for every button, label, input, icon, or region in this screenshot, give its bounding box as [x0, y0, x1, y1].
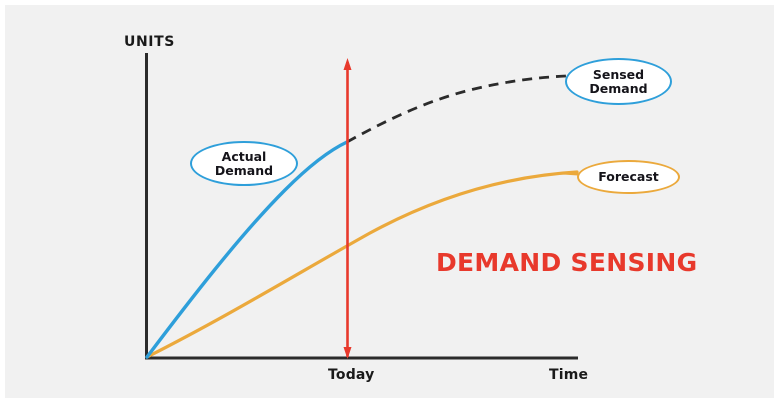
- callout-line-1: Actual: [222, 149, 267, 164]
- callout-line-1: Sensed: [593, 67, 644, 82]
- diagram-canvas: UNITS Today Time DEMAND SENSING Actual D…: [0, 0, 779, 406]
- callout-forecast-text: Forecast: [598, 170, 659, 184]
- callout-forecast: Forecast: [577, 160, 680, 194]
- callout-sensed-demand-text: Sensed Demand: [589, 68, 647, 96]
- diagram-title: DEMAND SENSING: [436, 248, 697, 277]
- callout-actual-demand: Actual Demand: [190, 141, 298, 186]
- y-axis-label: UNITS: [124, 34, 175, 50]
- demand-sensing-figure: [0, 0, 779, 406]
- sensed-demand-curve: [347, 76, 566, 142]
- callout-sensed-demand: Sensed Demand: [565, 58, 672, 105]
- x-axis-label: Time: [549, 367, 588, 383]
- today-marker-arrowhead-up: [344, 58, 352, 70]
- callout-line-2: Demand: [589, 81, 647, 96]
- callout-line-2: Demand: [215, 163, 273, 178]
- callout-actual-demand-text: Actual Demand: [215, 150, 273, 178]
- forecast-connector-line: [563, 173, 578, 174]
- today-marker-label: Today: [328, 367, 374, 383]
